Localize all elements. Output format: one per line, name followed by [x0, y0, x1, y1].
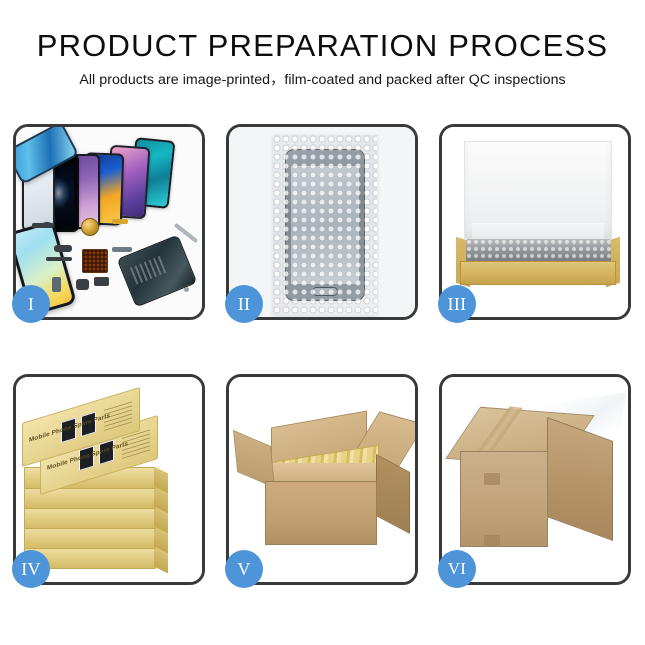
- tape-tab-icon: [484, 535, 500, 547]
- carton-front-panel-icon: [460, 451, 548, 547]
- sealed-carton-scene: [442, 377, 628, 582]
- bubble-wrap-sheet-icon: [273, 135, 377, 315]
- process-step-panel-6: VI: [439, 374, 631, 585]
- product-preparation-infographic: PRODUCT PREPARATION PROCESS All products…: [0, 0, 645, 645]
- screw-icon: [184, 287, 189, 292]
- step-badge: III: [438, 285, 476, 323]
- step-badge: V: [225, 550, 263, 588]
- camera-module-icon: [76, 279, 89, 290]
- process-step-panel-3: III: [439, 124, 631, 320]
- tape-tab-icon: [484, 473, 500, 485]
- open-carton-scene: [229, 377, 415, 582]
- step-4-image: Mobile Phone Spare Parts Mobile Phone Sp…: [16, 377, 202, 582]
- chip-array-icon: [82, 249, 108, 273]
- process-step-grid: I II: [13, 124, 632, 585]
- step-badge: I: [12, 285, 50, 323]
- kraft-box-layer: [24, 507, 156, 529]
- sim-tray-icon: [112, 247, 132, 252]
- page-title: PRODUCT PREPARATION PROCESS: [0, 28, 645, 64]
- screen-in-kraft-box-scene: [442, 127, 628, 317]
- process-step-panel-2: II: [226, 124, 418, 320]
- step-badge: II: [225, 285, 263, 323]
- carton-side-panel-icon: [547, 417, 613, 541]
- button-flex-icon: [112, 219, 128, 224]
- logic-board-icon: [117, 235, 198, 308]
- step-1-image: [16, 127, 202, 317]
- page-subtitle: All products are image-printed，film-coat…: [0, 71, 645, 89]
- stacked-kraft-boxes-scene: Mobile Phone Spare Parts Mobile Phone Sp…: [16, 377, 202, 582]
- kraft-box-layer: [24, 527, 156, 549]
- carton-front-panel-icon: [265, 481, 377, 545]
- phones-and-parts-scene: [16, 127, 202, 317]
- copper-coil-icon: [81, 218, 99, 236]
- process-step-panel-1: I: [13, 124, 205, 320]
- carton-side-panel-icon: [376, 454, 410, 534]
- bubble-wrapped-screen-scene: [229, 127, 415, 317]
- process-step-panel-4: Mobile Phone Spare Parts Mobile Phone Sp…: [13, 374, 205, 585]
- header: PRODUCT PREPARATION PROCESS All products…: [0, 28, 645, 89]
- step-badge: IV: [12, 550, 50, 588]
- carton-top-edge-icon: [265, 463, 377, 483]
- battery-icon: [52, 277, 61, 292]
- carton-left-flap-icon: [233, 430, 275, 488]
- kraft-box-tray-icon: [460, 261, 616, 285]
- step-badge: VI: [438, 550, 476, 588]
- phone-screen-assembly-icon: [285, 149, 365, 301]
- step-6-image: [442, 377, 628, 582]
- flex-cable-icon: [32, 223, 54, 228]
- connector-icon: [54, 245, 72, 252]
- step-2-image: [229, 127, 415, 317]
- ribbon-cable-icon: [46, 257, 72, 261]
- step-5-image: [229, 377, 415, 582]
- step-3-image: [442, 127, 628, 317]
- speaker-icon: [94, 277, 109, 286]
- process-step-panel-5: V: [226, 374, 418, 585]
- home-button-icon: [312, 287, 338, 296]
